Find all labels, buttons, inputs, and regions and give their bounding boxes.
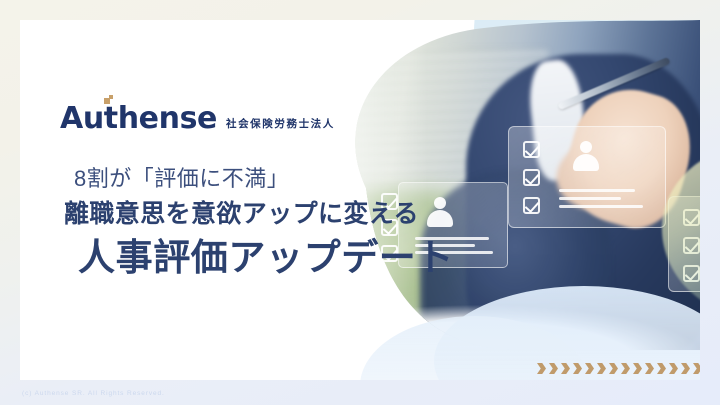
chevron-icon bbox=[561, 363, 570, 374]
chevron-icon bbox=[669, 363, 678, 374]
headline-line-2: 離職意思を意欲アップに変える bbox=[64, 195, 454, 233]
presentation-slide: Authense 社会保険労務士法人 8割が「評価に不満」 離職意思を意欲アップ… bbox=[0, 0, 720, 405]
headline-line-1: 8割が「評価に不満」 bbox=[74, 163, 454, 195]
headline-line-3: 人事評価アップデート bbox=[78, 233, 454, 283]
chevron-icon bbox=[573, 363, 582, 374]
chevron-icon bbox=[633, 363, 642, 374]
checkbox-icon bbox=[523, 141, 540, 158]
headline-block: 8割が「評価に不満」 離職意思を意欲アップに変える 人事評価アップデート bbox=[60, 163, 454, 283]
overlay-text-line bbox=[559, 205, 643, 208]
chevron-icon bbox=[549, 363, 558, 374]
person-silhouette-icon bbox=[573, 141, 599, 171]
chevron-icon bbox=[609, 363, 618, 374]
logo-wordmark: Authense bbox=[60, 104, 217, 134]
checkbox-icon bbox=[523, 169, 540, 186]
logo-accent-mark-icon bbox=[104, 95, 113, 104]
chevron-icon bbox=[585, 363, 594, 374]
logo-wordmark-text: Authense bbox=[60, 101, 217, 136]
chevron-icon bbox=[597, 363, 606, 374]
brand-logo: Authense 社会保険労務士法人 bbox=[60, 104, 335, 134]
chevron-strip bbox=[537, 363, 700, 374]
chevron-icon bbox=[681, 363, 690, 374]
chevron-icon bbox=[645, 363, 654, 374]
slide-card: Authense 社会保険労務士法人 8割が「評価に不満」 離職意思を意欲アップ… bbox=[20, 20, 700, 380]
checkbox-icon bbox=[523, 197, 540, 214]
overlay-card-checklist-main bbox=[508, 126, 666, 228]
chevron-icon bbox=[537, 363, 546, 374]
chevron-icon bbox=[657, 363, 666, 374]
overlay-text-line bbox=[559, 197, 621, 200]
chevron-icon bbox=[693, 363, 700, 374]
logo-subtitle: 社会保険労務士法人 bbox=[226, 116, 335, 134]
chevron-icon bbox=[621, 363, 630, 374]
overlay-text-line bbox=[559, 189, 635, 192]
copyright-footer: (c) Authense SR. All Rights Reserved. bbox=[22, 390, 165, 397]
